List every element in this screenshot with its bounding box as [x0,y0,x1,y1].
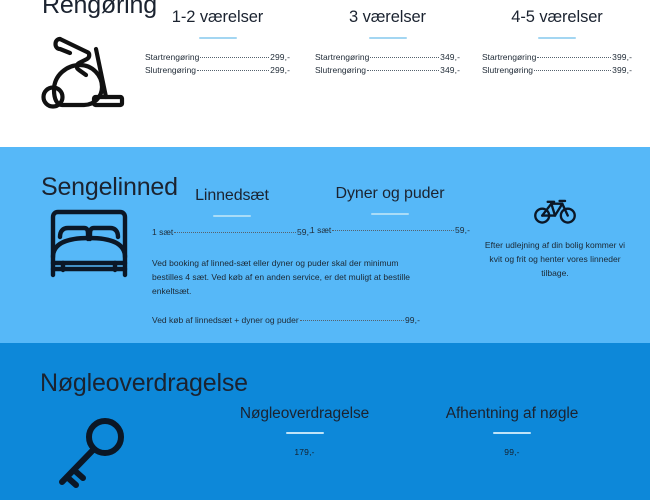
price-value: 99,- [437,447,587,457]
column-title: 4-5 værelser [482,8,632,26]
bed-icon [46,205,132,283]
price-list-page: Rengøring 1-2 værelser Startrengøring 29… [0,0,650,500]
bedlinen-note-block: Ved booking af linned-sæt eller dyner og… [152,257,420,327]
price-column-key-pickup: Afhentning af nøgle 99,- [437,405,587,457]
price-label: Slutrengøring [482,64,533,77]
price-label: 1 sæt [152,226,173,239]
title-divider [493,432,531,434]
price-row: 1 sæt 59,- [152,226,312,239]
price-value: 299,- [270,64,290,77]
price-label: Startrengøring [145,51,199,64]
column-title: Dyner og puder [310,185,470,203]
price-label: Startrengøring [482,51,536,64]
column-title: 3 værelser [315,8,460,26]
column-title: Nøgleoverdragelse [232,405,377,422]
pickup-aside: Efter udlejning af din bolig kommer vi k… [480,197,630,280]
combo-price-row: Ved køb af linnedsæt + dyner og puder 99… [152,314,420,327]
key-icon [52,416,130,494]
price-column-3-rooms: 3 værelser Startrengøring 349,- Slutreng… [315,8,460,77]
section-title-cleaning: Rengøring [42,0,157,20]
price-value: 59,- [455,224,470,237]
title-divider [369,37,407,39]
price-value: 299,- [270,51,290,64]
column-title: 1-2 værelser [145,8,290,26]
dot-leader [197,70,269,71]
dot-leader [332,230,454,231]
vacuum-cleaner-icon [36,27,136,115]
bicycle-icon [480,197,630,225]
price-row: Slutrengøring 399,- [482,64,632,77]
dot-leader [370,57,439,58]
price-column-linen-set: Linnedsæt 1 sæt 59,- [152,187,312,239]
price-column-4-5-rooms: 4-5 værelser Startrengøring 399,- Slutre… [482,8,632,77]
section-keys: Nøgleoverdragelse Nøgleoverdragelse 179,… [0,343,650,500]
title-divider [199,37,237,39]
dot-leader [534,70,611,71]
dot-leader [200,57,269,58]
price-column-1-2-rooms: 1-2 værelser Startrengøring 299,- Slutre… [145,8,290,77]
dot-leader [300,320,404,321]
price-column-key-handover: Nøgleoverdragelse 179,- [232,405,377,457]
title-divider [371,213,409,215]
price-row: Startrengøring 399,- [482,51,632,64]
price-label: Slutrengøring [145,64,196,77]
price-row: Startrengøring 349,- [315,51,460,64]
price-label: Slutrengøring [315,64,366,77]
price-row: Startrengøring 299,- [145,51,290,64]
dot-leader [367,70,439,71]
section-bedlinen: Sengelinned Linnedsæt 1 sæt 59,- Dyner o… [0,147,650,343]
title-divider [213,215,251,217]
column-title: Linnedsæt [152,187,312,205]
bedlinen-note: Ved booking af linned-sæt eller dyner og… [152,257,420,298]
price-value: 99,- [405,314,420,327]
price-label: Startrengøring [315,51,369,64]
price-column-duvets-pillows: Dyner og puder 1 sæt 59,- [310,185,470,237]
section-title-keys: Nøgleoverdragelse [40,369,248,398]
price-value: 179,- [232,447,377,457]
title-divider [286,432,324,434]
column-title: Afhentning af nøgle [437,405,587,422]
price-row: Slutrengøring 349,- [315,64,460,77]
dot-leader [537,57,611,58]
title-divider [538,37,576,39]
price-value: 349,- [440,64,460,77]
price-label: Ved køb af linnedsæt + dyner og puder [152,314,299,327]
price-row: Slutrengøring 299,- [145,64,290,77]
price-row: 1 sæt 59,- [310,224,470,237]
price-value: 349,- [440,51,460,64]
section-cleaning: Rengøring 1-2 værelser Startrengøring 29… [0,0,650,147]
price-value: 399,- [612,51,632,64]
pickup-note: Efter udlejning af din bolig kommer vi k… [480,239,630,280]
price-value: 399,- [612,64,632,77]
dot-leader [174,232,296,233]
price-label: 1 sæt [310,224,331,237]
